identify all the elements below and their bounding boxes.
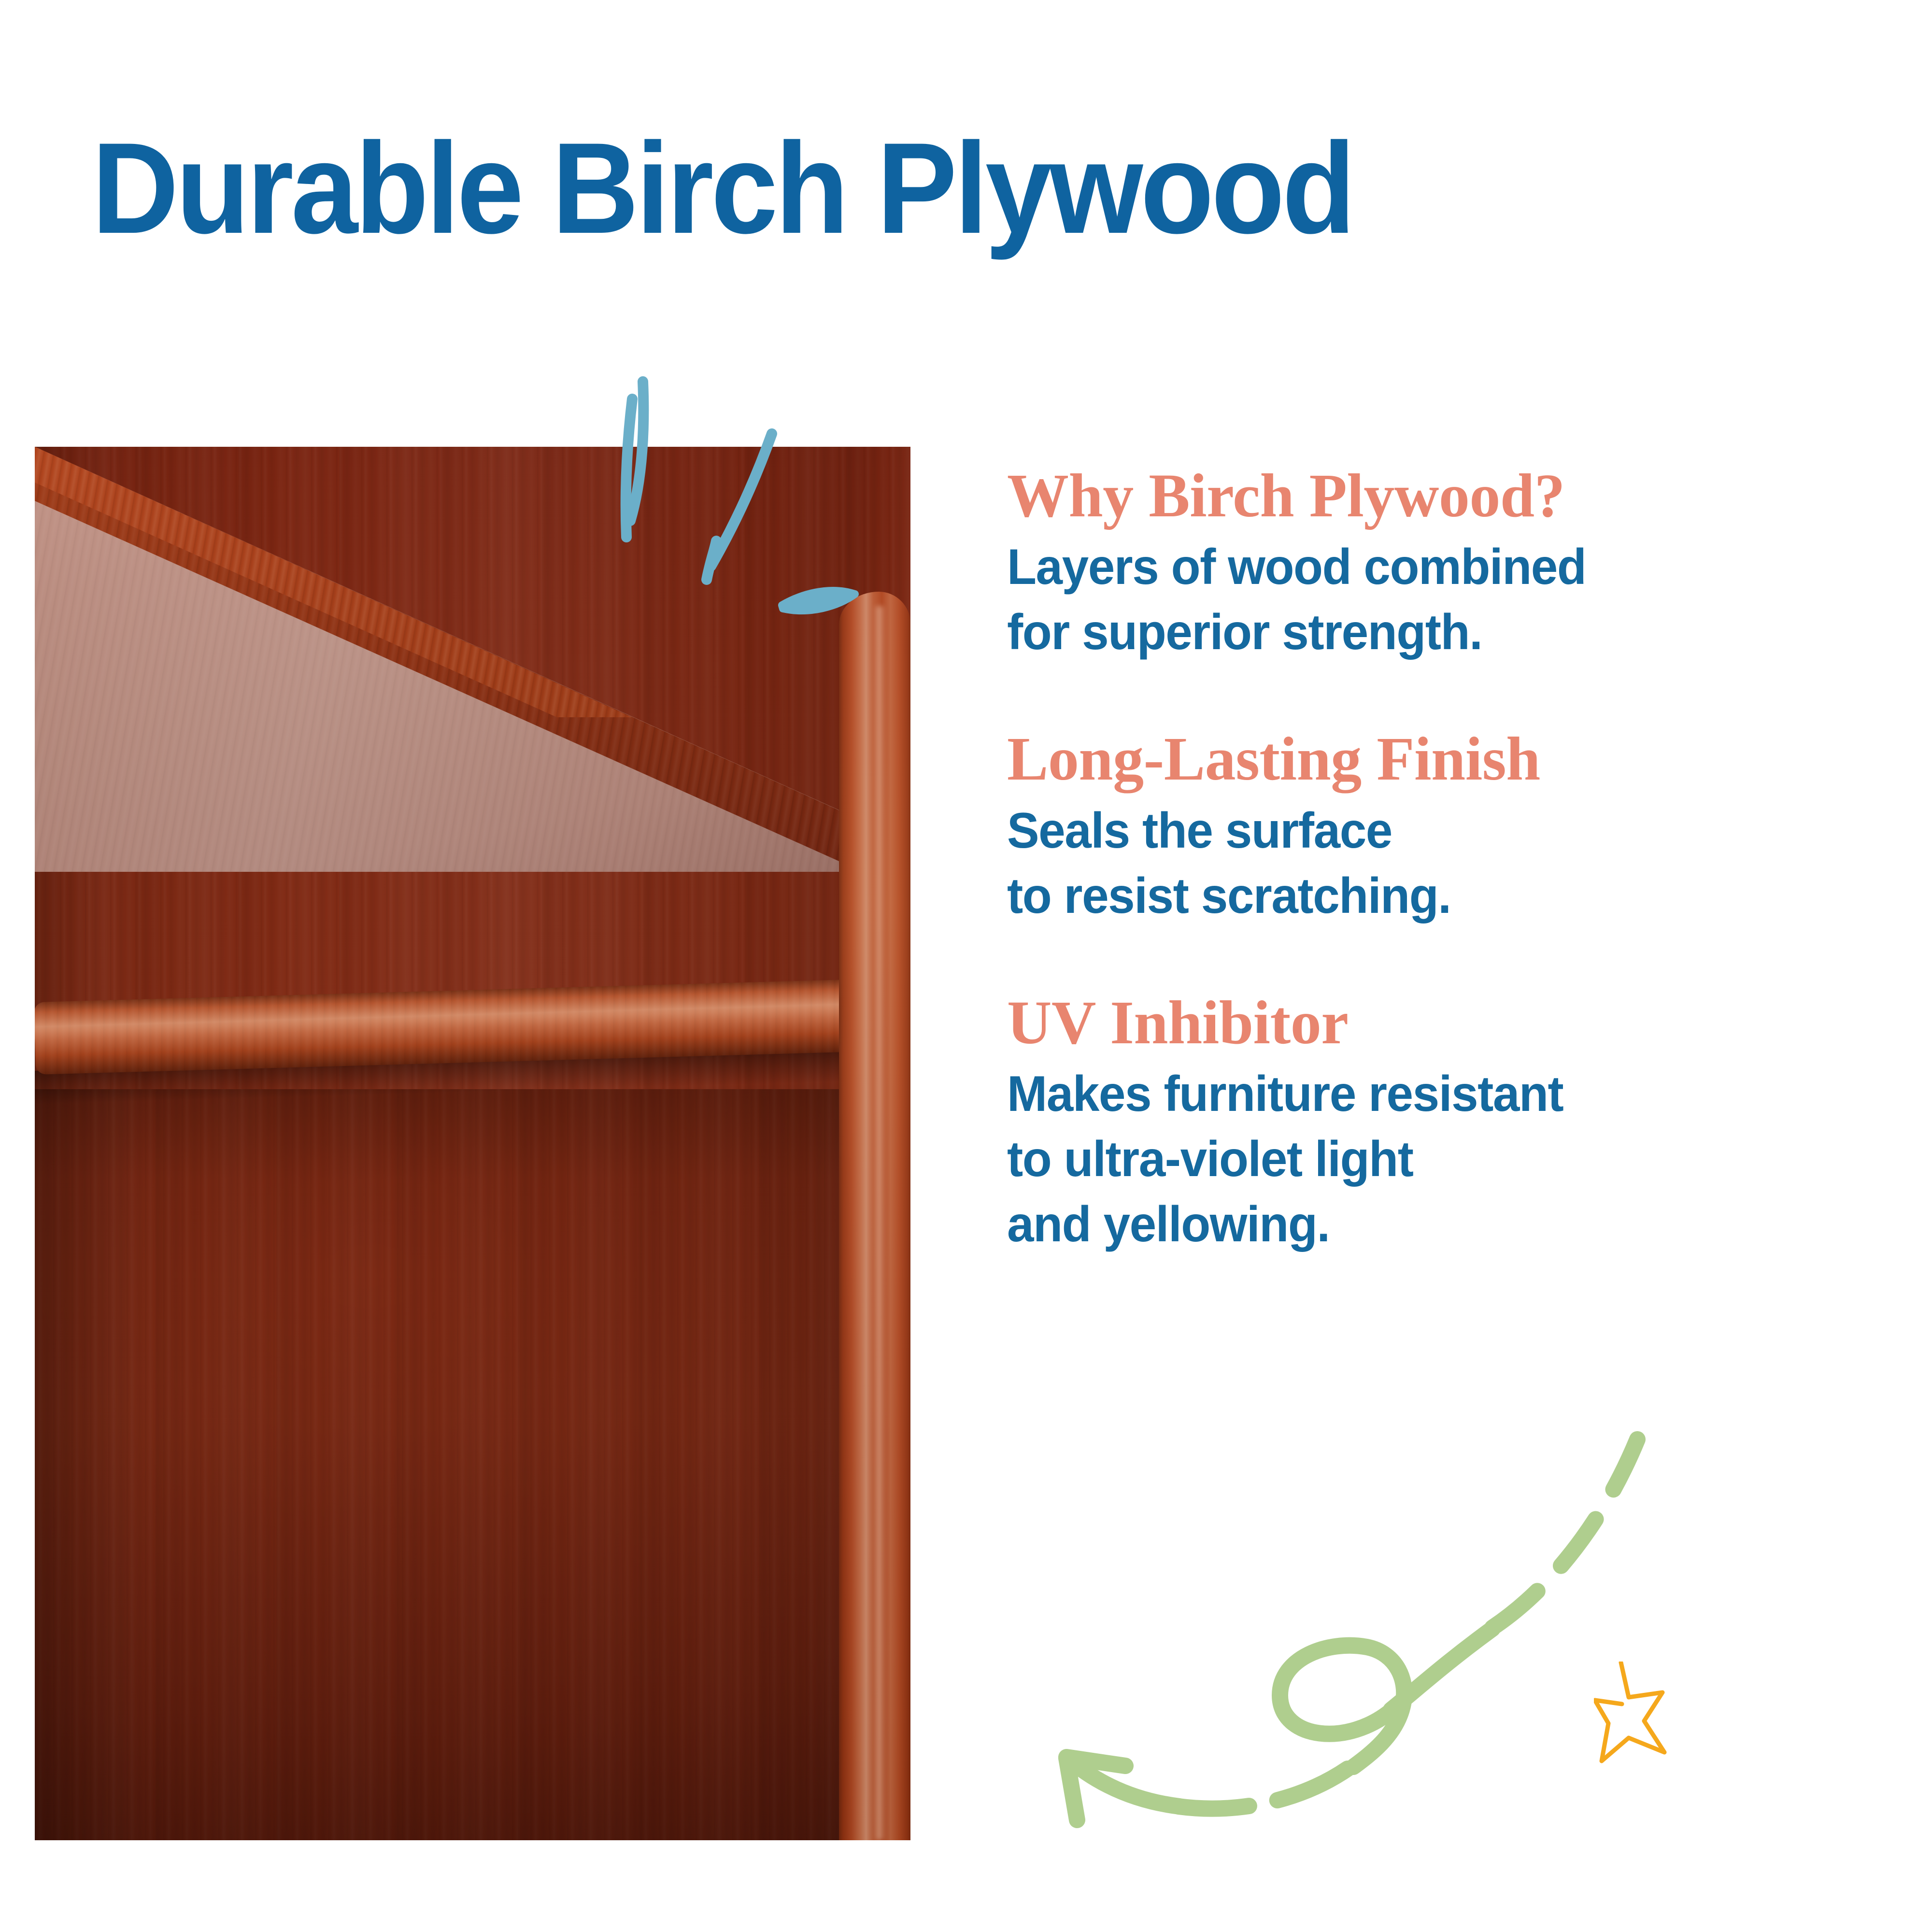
feature-body-line: Makes furniture resistant	[1007, 1062, 1842, 1127]
feature-list: Why Birch Plywood? Layers of wood combin…	[1007, 464, 1876, 1258]
infographic-canvas: Durable Birch Plywood	[0, 0, 1932, 1932]
feature-body-line: and yellowing.	[1007, 1192, 1842, 1257]
feature-body: Layers of wood combined for superior str…	[1007, 535, 1842, 665]
feature-heading: UV Inhibitor	[1007, 991, 1876, 1055]
wood-edge-highlight	[874, 606, 885, 1840]
feature-item: Why Birch Plywood? Layers of wood combin…	[1007, 464, 1876, 665]
feature-body-line: to ultra-violet light	[1007, 1127, 1842, 1192]
feature-body: Seals the surface to resist scratching.	[1007, 798, 1842, 929]
feature-heading: Long-Lasting Finish	[1007, 727, 1876, 791]
feature-item: Long-Lasting Finish Seals the surface to…	[1007, 727, 1876, 928]
star-icon	[1594, 1662, 1719, 1792]
curved-arrow-icon	[1009, 1420, 1744, 1908]
feature-heading: Why Birch Plywood?	[1007, 464, 1876, 528]
feature-body-line: Layers of wood combined	[1007, 535, 1842, 600]
feature-item: UV Inhibitor Makes furniture resistant t…	[1007, 991, 1876, 1258]
wood-lower-shading	[35, 1089, 910, 1840]
feature-body-line: to resist scratching.	[1007, 864, 1842, 929]
feature-body: Makes furniture resistant to ultra-viole…	[1007, 1062, 1842, 1258]
product-photo	[35, 447, 910, 1840]
feature-body-line: for superior strength.	[1007, 600, 1842, 665]
feature-body-line: Seals the surface	[1007, 798, 1842, 864]
page-title: Durable Birch Plywood	[92, 123, 1754, 253]
